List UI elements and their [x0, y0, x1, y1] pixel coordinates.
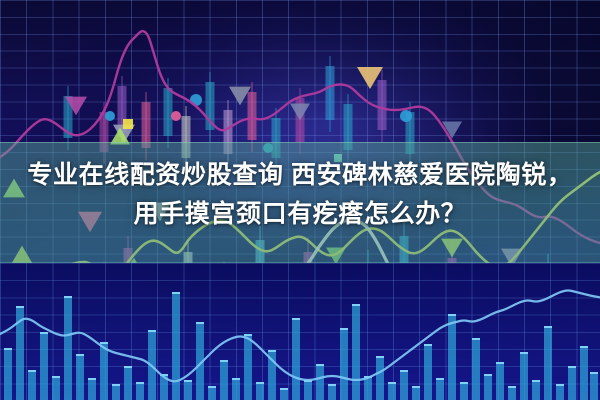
volume-bar [172, 292, 180, 400]
volume-bar [52, 376, 60, 400]
headline-line-2: 用手摸宫颈口有疙瘩怎么办？ [0, 195, 600, 234]
candle-body [112, 316, 121, 374]
candle-body [568, 296, 577, 356]
volume-bar [352, 304, 360, 400]
volume-bar-cap [124, 366, 132, 368]
candle-body [328, 288, 337, 350]
volume-bar [292, 318, 300, 400]
volume-bar [460, 382, 468, 400]
volume-bar [568, 366, 576, 400]
upper-candle-body [164, 88, 173, 136]
volume-bar-cap [436, 378, 444, 380]
candle-body [316, 314, 325, 372]
volume-bar [256, 382, 264, 400]
volume-bar [4, 348, 12, 400]
triangle-down-marker-icon [290, 104, 310, 121]
square-marker-icon [123, 119, 133, 129]
volume-bar [544, 326, 552, 400]
circle-marker-icon [477, 271, 491, 285]
volume-bar [208, 386, 216, 400]
volume-bar [220, 360, 228, 400]
candle-body [364, 264, 373, 330]
volume-bar [520, 352, 528, 400]
circle-marker-icon [105, 111, 115, 121]
circle-marker-icon [232, 290, 244, 302]
headline-line-1: 专业在线配资炒股查询 西安碑林慈爱医院陶锐， [0, 156, 600, 195]
volume-bar-cap [112, 384, 120, 386]
volume-bar [340, 328, 348, 400]
volume-bar [448, 314, 456, 400]
volume-bar [136, 382, 144, 400]
volume-bar-cap [88, 378, 96, 380]
volume-bar-cap [532, 380, 540, 382]
volume-bar [590, 372, 598, 400]
volume-bar [184, 380, 192, 400]
volume-bar-cap [148, 330, 156, 332]
volume-bar [412, 386, 420, 400]
volume-bar-cap [388, 382, 396, 384]
volume-bar-cap [400, 370, 408, 372]
candle-body [508, 314, 517, 372]
volume-bar-cap [208, 386, 216, 388]
volume-bar-cap [196, 322, 204, 324]
volume-bar-cap [220, 360, 228, 362]
green-band-bottom-edge [0, 262, 600, 263]
volume-bar-cap [544, 326, 552, 328]
volume-bar-cap [460, 382, 468, 384]
volume-bar-cap [484, 374, 492, 376]
volume-bar [400, 370, 408, 400]
volume-bar [124, 366, 132, 400]
volume-bar [484, 374, 492, 400]
volume-bar [244, 334, 252, 400]
candle-body [436, 310, 445, 368]
candle-body [412, 322, 421, 380]
volume-bar-cap [590, 372, 598, 374]
volume-bar [532, 380, 540, 400]
volume-bar [232, 378, 240, 400]
volume-bar [316, 364, 324, 400]
candle-body [388, 292, 397, 354]
upper-candle-body [326, 66, 335, 120]
candle-body [28, 324, 37, 368]
candle-body [484, 320, 493, 378]
square-marker-icon [575, 267, 585, 277]
volume-bar [508, 386, 516, 400]
banner-headline: 专业在线配资炒股查询 西安碑林慈爱医院陶锐， 用手摸宫颈口有疙瘩怎么办？ [0, 156, 600, 234]
circle-marker-icon [400, 110, 412, 122]
volume-bar-cap [28, 370, 36, 372]
circle-marker-icon [198, 272, 210, 284]
volume-bar-cap [76, 354, 84, 356]
volume-bar-cap [496, 362, 504, 364]
candle-body [136, 306, 145, 362]
volume-bar-cap [16, 306, 24, 308]
candle-body [544, 268, 553, 336]
volume-bar [28, 370, 36, 400]
volume-bar-cap [316, 364, 324, 366]
volume-bar [64, 296, 72, 400]
green-band-top-edge [0, 142, 600, 143]
volume-bar [496, 362, 504, 400]
triangle-up-marker-icon [207, 279, 229, 298]
volume-bar [100, 342, 108, 400]
volume-bar-cap [520, 352, 528, 354]
volume-bar-cap [172, 292, 180, 294]
volume-bar [556, 384, 564, 400]
volume-bar [88, 378, 96, 400]
volume-bar-cap [256, 382, 264, 384]
volume-bar-cap [352, 304, 360, 306]
volume-bar-cap [580, 346, 588, 348]
volume-bar [112, 384, 120, 400]
volume-bar-cap [268, 350, 276, 352]
volume-bar-cap [556, 384, 564, 386]
volume-bar-cap [508, 386, 516, 388]
volume-bar-cap [292, 318, 300, 320]
candle-body [556, 316, 565, 374]
volume-bar-cap [568, 366, 576, 368]
volume-bar-cap [280, 388, 288, 390]
volume-bar [40, 332, 48, 400]
candle-body [280, 286, 289, 348]
volume-bar [376, 356, 384, 400]
volume-bar [472, 338, 480, 400]
volume-bar-cap [4, 348, 12, 350]
volume-bar [76, 354, 84, 400]
circle-marker-icon [171, 111, 181, 121]
volume-bar-cap [376, 356, 384, 358]
volume-bar-cap [232, 378, 240, 380]
volume-bar-cap [424, 344, 432, 346]
volume-bar-cap [40, 332, 48, 334]
candle-body [460, 326, 469, 384]
volume-bar-cap [184, 380, 192, 382]
volume-bar-cap [328, 384, 336, 386]
volume-bar-cap [412, 386, 420, 388]
candle-body [220, 276, 229, 340]
volume-bar [328, 384, 336, 400]
volume-bar [580, 346, 588, 400]
volume-bar-cap [244, 334, 252, 336]
upper-candle-body [378, 80, 387, 130]
volume-bar [424, 344, 432, 400]
triangle-up-marker-icon [448, 280, 472, 300]
volume-bar-cap [340, 328, 348, 330]
volume-bar-cap [136, 382, 144, 384]
candle-body [100, 276, 109, 342]
candle-body [88, 304, 97, 356]
volume-bar [436, 378, 444, 400]
candle-body [532, 324, 541, 382]
volume-bar-cap [448, 314, 456, 316]
volume-bar [388, 382, 396, 400]
volume-bar-cap [100, 342, 108, 344]
candle-body [160, 290, 169, 356]
volume-bar-cap [64, 296, 72, 298]
candle-body [232, 318, 241, 376]
volume-bar-cap [52, 376, 60, 378]
volume-bar [304, 380, 312, 400]
candle-body [520, 290, 529, 352]
volume-bar-cap [472, 338, 480, 340]
stock-chart-banner: 专业在线配资炒股查询 西安碑林慈爱医院陶锐， 用手摸宫颈口有疙瘩怎么办？ [0, 0, 600, 400]
upper-candle-body [248, 92, 257, 140]
